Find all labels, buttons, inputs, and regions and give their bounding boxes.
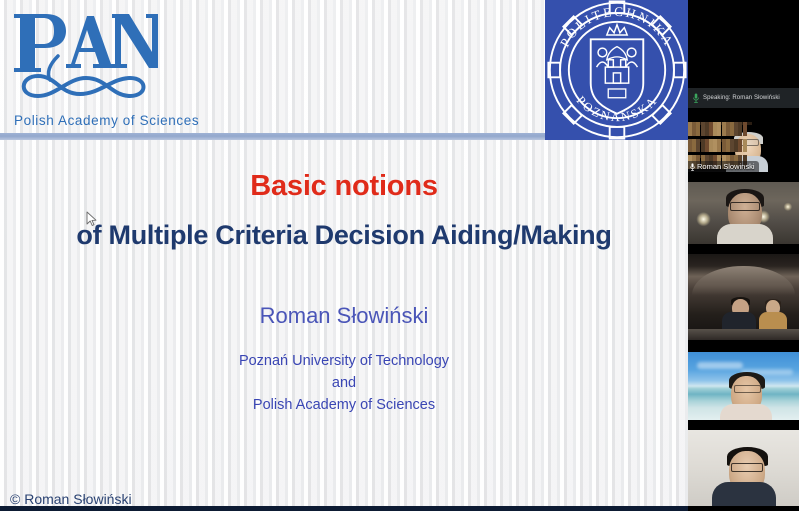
video-tile-participant-5[interactable] — [688, 430, 799, 506]
video-conference-panel[interactable]: Speaking: Roman Słowiński — [688, 0, 799, 511]
person-glasses — [730, 202, 760, 211]
person-torso — [712, 482, 776, 506]
microphone-icon — [693, 93, 699, 103]
person-glasses — [734, 385, 761, 393]
video-tile-content — [688, 352, 799, 420]
pan-monogram-icon — [8, 8, 158, 104]
video-tile-content — [688, 254, 799, 340]
person-torso — [717, 224, 773, 244]
slide-title-main: Basic notions — [0, 170, 688, 203]
participant-name-badge: Roman Slowinski — [688, 161, 759, 172]
slide-title-sub: of Multiple Criteria Decision Aiding/Mak… — [0, 220, 688, 251]
affiliation-line-2: and — [0, 372, 688, 394]
slide-affiliation: Poznań University of Technology and Poli… — [0, 350, 688, 416]
footer-band — [0, 506, 688, 511]
book-spine — [743, 122, 747, 136]
person-torso — [720, 404, 772, 420]
book-spine — [743, 139, 747, 153]
poznan-university-seal-icon: POLITECHNIKA POZNAŃSKA — [545, 0, 688, 140]
header-divider-band — [0, 133, 546, 140]
affiliation-line-3: Polish Academy of Sciences — [0, 394, 688, 416]
video-tile-participant-2[interactable] — [688, 182, 799, 244]
person-glasses — [731, 463, 763, 472]
cloud-shape — [697, 362, 743, 369]
presentation-slide[interactable]: Polish Academy of Sciences — [0, 0, 688, 511]
participant-name: Roman Slowinski — [697, 162, 755, 171]
speaking-indicator-label: Speaking: Roman Słowiński — [703, 95, 780, 101]
desk-surface — [688, 329, 799, 340]
video-tile-content — [688, 182, 799, 244]
video-tile-participant-3[interactable] — [688, 254, 799, 340]
microphone-icon — [690, 163, 695, 171]
video-tile-roman-slowinski[interactable]: Roman Slowinski — [688, 108, 799, 172]
screen-capture: Polish Academy of Sciences — [0, 0, 799, 511]
slide-copyright: © Roman Słowiński — [10, 491, 132, 507]
affiliation-line-1: Poznań University of Technology — [0, 350, 688, 372]
speaking-indicator: Speaking: Roman Słowiński — [688, 88, 799, 108]
video-tile-content — [688, 430, 799, 506]
poznan-university-logo-block: POLITECHNIKA POZNAŃSKA — [545, 0, 688, 140]
slide-author-name: Roman Słowiński — [0, 303, 688, 329]
pan-logo-caption: Polish Academy of Sciences — [14, 113, 199, 128]
video-tile-participant-4[interactable] — [688, 352, 799, 420]
pan-logo: Polish Academy of Sciences — [8, 8, 198, 130]
